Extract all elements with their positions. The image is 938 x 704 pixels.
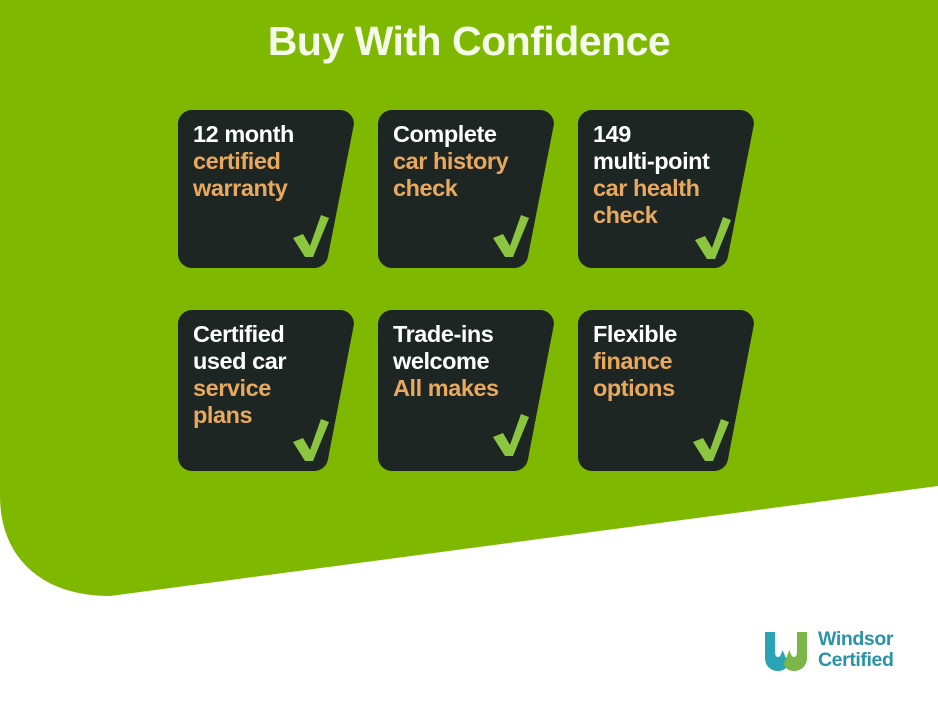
windsor-w-mark-icon	[762, 628, 810, 672]
card-line-white: multi-point	[593, 148, 743, 175]
card-text: Complete car history check	[393, 121, 543, 202]
feature-card-car-history-check[interactable]: Complete car history check	[378, 110, 554, 268]
feature-card-service-plans[interactable]: Certified used car service plans	[178, 310, 354, 471]
logo-line-1: Windsor	[818, 629, 894, 650]
card-line-orange: check	[393, 175, 543, 202]
logo-line-2: Certified	[818, 650, 894, 671]
card-line-orange: warranty	[193, 175, 343, 202]
card-text: 12 month certified warranty	[193, 121, 343, 202]
card-row-top: 12 month certified warranty Complete car…	[178, 110, 754, 268]
card-line-orange: check	[593, 202, 743, 229]
card-line-white: Certified	[193, 321, 343, 348]
logo-wordmark: Windsor Certified	[818, 629, 894, 672]
card-line-white: Complete	[393, 121, 543, 148]
card-row-bottom: Certified used car service plans Trade-i…	[178, 310, 754, 471]
feature-card-grid: 12 month certified warranty Complete car…	[178, 110, 754, 471]
card-text: 149 multi-point car health check	[593, 121, 743, 230]
feature-card-multi-point-check[interactable]: 149 multi-point car health check	[578, 110, 754, 268]
card-text: Certified used car service plans	[193, 321, 343, 430]
promo-banner: Buy With Confidence 12 month certified w…	[0, 0, 938, 704]
card-line-white: Trade-ins	[393, 321, 543, 348]
card-text: Flexible finance options	[593, 321, 743, 402]
card-line-orange: options	[593, 375, 743, 402]
card-line-orange: certified	[193, 148, 343, 175]
card-line-white: 149	[593, 121, 743, 148]
card-line-orange: car health	[593, 175, 743, 202]
card-line-orange: All makes	[393, 375, 543, 402]
card-line-orange: car history	[393, 148, 543, 175]
card-line-white: welcome	[393, 348, 543, 375]
card-line-white: Flexible	[593, 321, 743, 348]
feature-card-flexible-finance[interactable]: Flexible finance options	[578, 310, 754, 471]
card-line-orange: finance	[593, 348, 743, 375]
card-line-white: 12 month	[193, 121, 343, 148]
card-line-white: used car	[193, 348, 343, 375]
card-line-orange: service	[193, 375, 343, 402]
page-title: Buy With Confidence	[0, 18, 938, 65]
feature-card-trade-ins[interactable]: Trade-ins welcome All makes	[378, 310, 554, 471]
windsor-certified-logo[interactable]: Windsor Certified	[762, 628, 894, 672]
feature-card-certified-warranty[interactable]: 12 month certified warranty	[178, 110, 354, 268]
card-line-orange: plans	[193, 402, 343, 429]
card-text: Trade-ins welcome All makes	[393, 321, 543, 402]
